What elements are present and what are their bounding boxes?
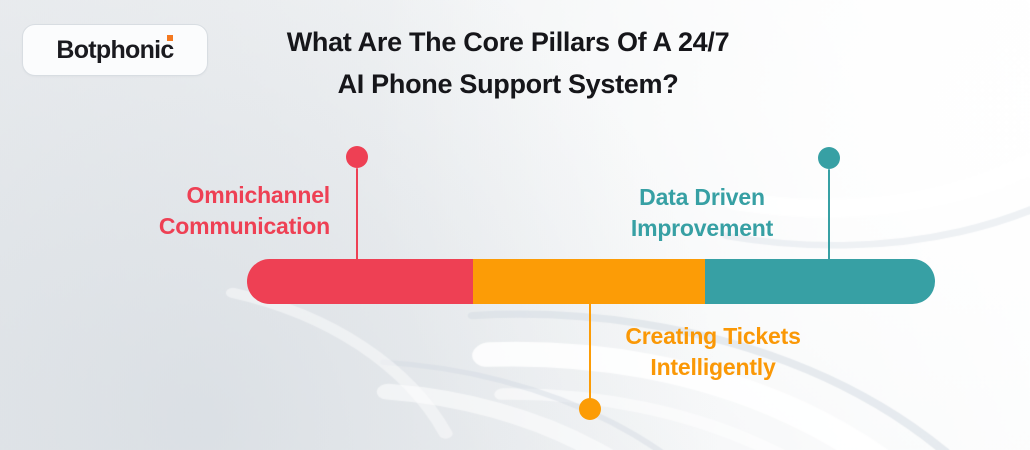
infographic-stage: Botphonic What Are The Core Pillars Of A… bbox=[0, 0, 1030, 450]
connector-dot-data-driven bbox=[818, 147, 840, 169]
brand-accent-dot-icon bbox=[167, 35, 173, 41]
bar-segment-omnichannel bbox=[247, 259, 473, 304]
bar-segment-tickets bbox=[473, 259, 705, 304]
page-title-line-2: AI Phone Support System? bbox=[228, 64, 788, 106]
brand-logo-label: Botphonic bbox=[56, 36, 173, 64]
connector-line-data-driven bbox=[828, 169, 830, 264]
bar-segment-data-driven bbox=[705, 259, 935, 304]
pillar-label-omnichannel-line-2: Communication bbox=[80, 211, 330, 242]
pillar-label-tickets-line-2: Intelligently bbox=[598, 352, 828, 383]
page-title: What Are The Core Pillars Of A 24/7 AI P… bbox=[228, 22, 788, 106]
pillar-label-data-driven: Data Driven Improvement bbox=[590, 182, 814, 243]
connector-dot-omnichannel bbox=[346, 146, 368, 168]
connector-dot-tickets bbox=[579, 398, 601, 420]
connector-line-omnichannel bbox=[356, 168, 358, 264]
pillar-label-omnichannel-line-1: Omnichannel bbox=[80, 180, 330, 211]
page-title-line-1: What Are The Core Pillars Of A 24/7 bbox=[228, 22, 788, 64]
brand-logo-text: Botphonic bbox=[56, 36, 173, 65]
pillar-label-data-driven-line-1: Data Driven bbox=[590, 182, 814, 213]
pillar-label-data-driven-line-2: Improvement bbox=[590, 213, 814, 244]
pillar-label-tickets: Creating Tickets Intelligently bbox=[598, 321, 828, 382]
pillar-label-tickets-line-1: Creating Tickets bbox=[598, 321, 828, 352]
pillar-label-omnichannel: Omnichannel Communication bbox=[80, 180, 330, 241]
pillar-bar bbox=[247, 259, 935, 304]
connector-line-tickets bbox=[589, 300, 591, 400]
brand-logo: Botphonic bbox=[22, 24, 208, 76]
